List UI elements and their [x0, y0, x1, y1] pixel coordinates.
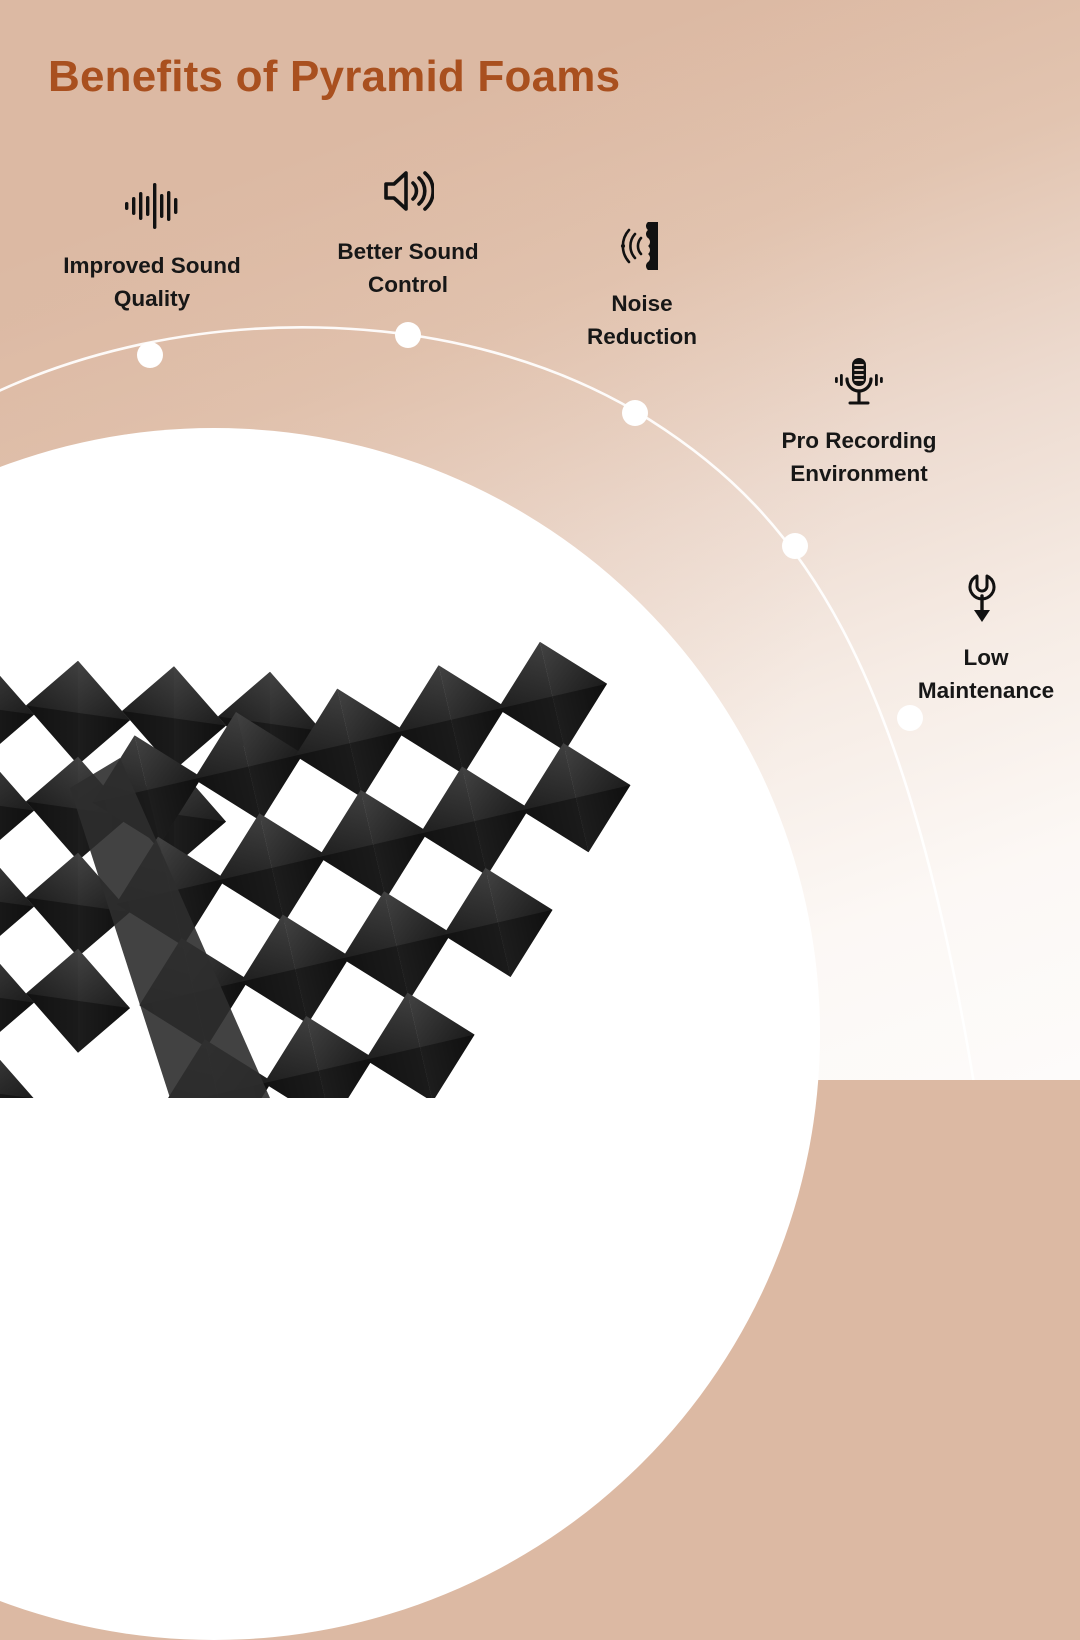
benefit-label: Better Sound Control	[278, 236, 538, 301]
microphone-icon	[729, 355, 989, 415]
benefit-label: Low Maintenance	[856, 642, 1080, 707]
benefit-item-low-maintenance[interactable]: Low Maintenance	[856, 572, 1080, 707]
wrench-tool-icon	[856, 572, 1080, 632]
acoustic-panel-icon	[512, 218, 772, 278]
benefit-label: Noise Reduction	[512, 288, 772, 353]
benefit-item-noise-reduction[interactable]: Noise Reduction	[512, 218, 772, 353]
benefit-label: Pro Recording Environment	[729, 425, 989, 490]
foam-artwork	[0, 628, 730, 1098]
pyramid-acoustic-foam-image	[0, 628, 730, 1098]
speaker-volume-icon	[278, 166, 538, 226]
benefit-item-better-sound-control[interactable]: Better Sound Control	[278, 166, 538, 301]
audio-waveform-icon	[22, 180, 282, 240]
benefit-item-pro-recording-environment[interactable]: Pro Recording Environment	[729, 355, 989, 490]
benefit-label: Improved Sound Quality	[22, 250, 282, 315]
benefit-item-improved-sound-quality[interactable]: Improved Sound Quality	[22, 180, 282, 315]
page-title: Benefits of Pyramid Foams	[48, 52, 620, 102]
